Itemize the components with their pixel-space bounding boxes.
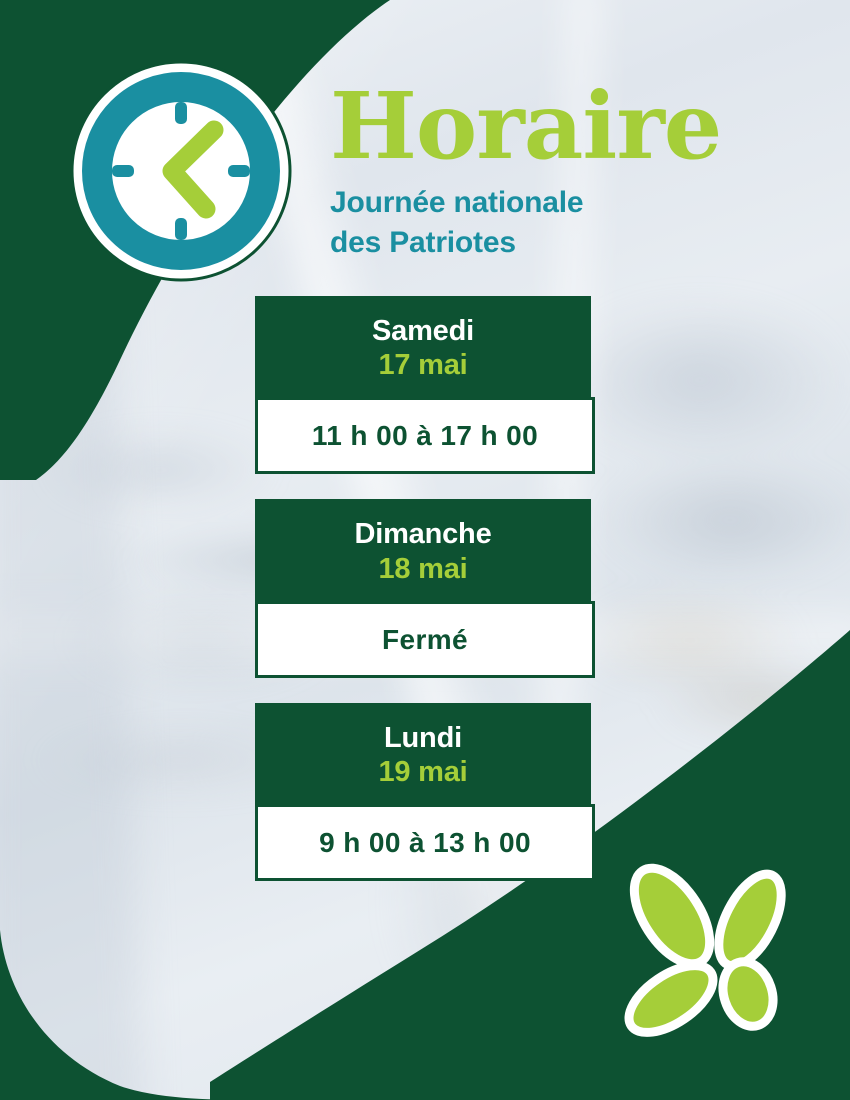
clock-icon-svg (70, 60, 292, 282)
schedule-poster: Horaire Journée nationale des Patriotes … (0, 0, 850, 1100)
schedule-date-label: 18 mai (255, 552, 591, 586)
title-block: Horaire Journée nationale des Patriotes (330, 84, 800, 262)
schedule-hours-label: Fermé (258, 624, 592, 656)
schedule-hours-label: 11 h 00 à 17 h 00 (258, 420, 592, 452)
page-title: Horaire (330, 84, 800, 169)
schedule-card-header: Samedi 17 mai (255, 296, 591, 398)
butterfly-logo-svg (615, 858, 815, 1053)
schedule-list: Samedi 17 mai 11 h 00 à 17 h 00 Dimanche… (255, 296, 595, 881)
schedule-day-label: Dimanche (255, 517, 591, 551)
schedule-card-body: 11 h 00 à 17 h 00 (255, 397, 595, 474)
schedule-day-label: Lundi (255, 721, 591, 755)
clock-icon (70, 60, 292, 282)
schedule-day-label: Samedi (255, 314, 591, 348)
page-subtitle: Journée nationale des Patriotes (330, 183, 800, 263)
schedule-card-header: Dimanche 18 mai (255, 499, 591, 601)
poster-header: Horaire Journée nationale des Patriotes (0, 0, 850, 290)
schedule-card: Dimanche 18 mai Fermé (255, 499, 595, 677)
butterfly-logo-icon (615, 858, 815, 1053)
schedule-card-header: Lundi 19 mai (255, 703, 591, 805)
schedule-card-body: 9 h 00 à 13 h 00 (255, 804, 595, 881)
schedule-card: Lundi 19 mai 9 h 00 à 13 h 00 (255, 703, 595, 881)
schedule-date-label: 19 mai (255, 755, 591, 789)
schedule-card: Samedi 17 mai 11 h 00 à 17 h 00 (255, 296, 595, 474)
schedule-hours-label: 9 h 00 à 13 h 00 (258, 827, 592, 859)
page-subtitle-line2: des Patriotes (330, 223, 800, 263)
schedule-date-label: 17 mai (255, 348, 591, 382)
page-subtitle-line1: Journée nationale (330, 183, 800, 223)
schedule-card-body: Fermé (255, 601, 595, 678)
